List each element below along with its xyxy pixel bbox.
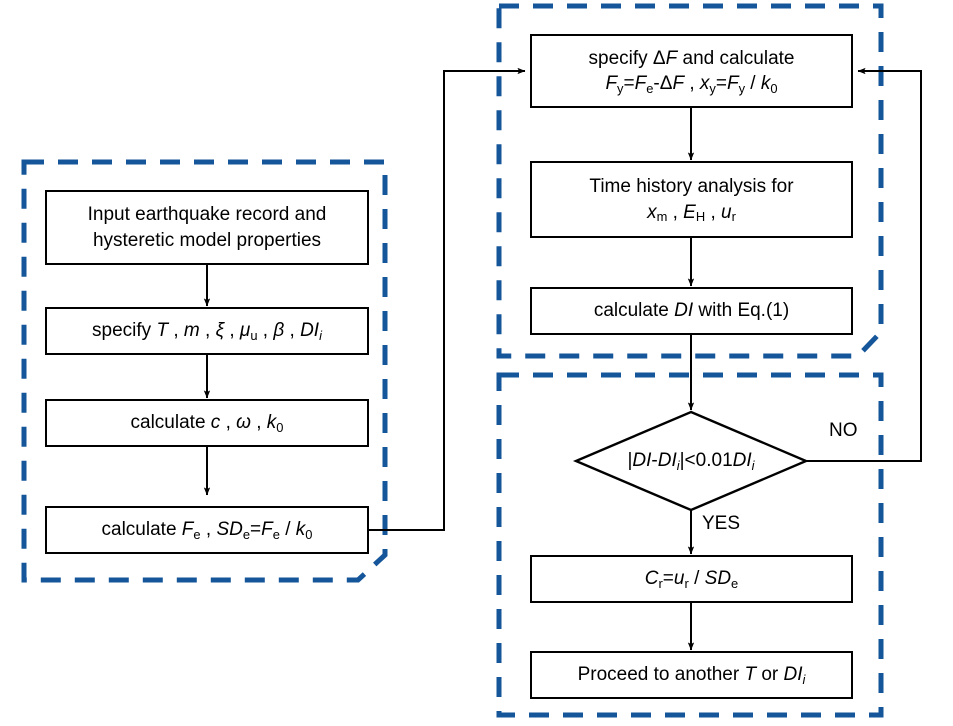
- calculate-di-box[interactable]: calculate DI with Eq.(1): [530, 287, 853, 335]
- flowchart-lines-layer: [0, 0, 953, 726]
- proceed-next-case-text: Proceed to another T or DIi: [578, 662, 806, 687]
- input-earthquake-record-text: Input earthquake record and hysteretic m…: [88, 202, 327, 252]
- calculate-di-text: calculate DI with Eq.(1): [594, 298, 789, 323]
- specify-delta-f-box[interactable]: specify ΔF and calculate Fy=Fe-ΔF , xy=F…: [530, 34, 853, 108]
- specify-parameters-text: specify T , m , ξ , μu , β , DIi: [92, 318, 322, 343]
- edge-calc-fe-to-specify-df: [369, 71, 525, 530]
- time-history-analysis-box[interactable]: Time history analysis for xm , EH , ur: [530, 161, 853, 238]
- edge-decision-no-loop: [806, 71, 921, 461]
- edge-label-yes: YES: [702, 513, 740, 535]
- input-earthquake-record-box[interactable]: Input earthquake record and hysteretic m…: [45, 190, 369, 265]
- calculate-c-omega-k0-box[interactable]: calculate c , ω , k0: [45, 399, 369, 447]
- calculate-c-omega-k0-text: calculate c , ω , k0: [131, 410, 284, 435]
- specify-delta-f-text: specify ΔF and calculate Fy=Fe-ΔF , xy=F…: [589, 46, 795, 96]
- compute-cr-text: Cr=ur / SDe: [645, 566, 738, 591]
- specify-parameters-box[interactable]: specify T , m , ξ , μu , β , DIi: [45, 307, 369, 355]
- flowchart-canvas: Input earthquake record and hysteretic m…: [0, 0, 953, 726]
- calculate-fe-sde-box[interactable]: calculate Fe , SDe=Fe / k0: [45, 506, 369, 554]
- edge-label-no: NO: [829, 420, 858, 442]
- convergence-decision-text: |DI-DIi|<0.01DIi: [627, 450, 754, 472]
- compute-cr-box[interactable]: Cr=ur / SDe: [530, 555, 853, 603]
- proceed-next-case-box[interactable]: Proceed to another T or DIi: [530, 651, 853, 699]
- time-history-analysis-text: Time history analysis for xm , EH , ur: [589, 174, 793, 224]
- calculate-fe-sde-text: calculate Fe , SDe=Fe / k0: [102, 517, 313, 542]
- convergence-decision-label: |DI-DIi|<0.01DIi: [591, 446, 791, 476]
